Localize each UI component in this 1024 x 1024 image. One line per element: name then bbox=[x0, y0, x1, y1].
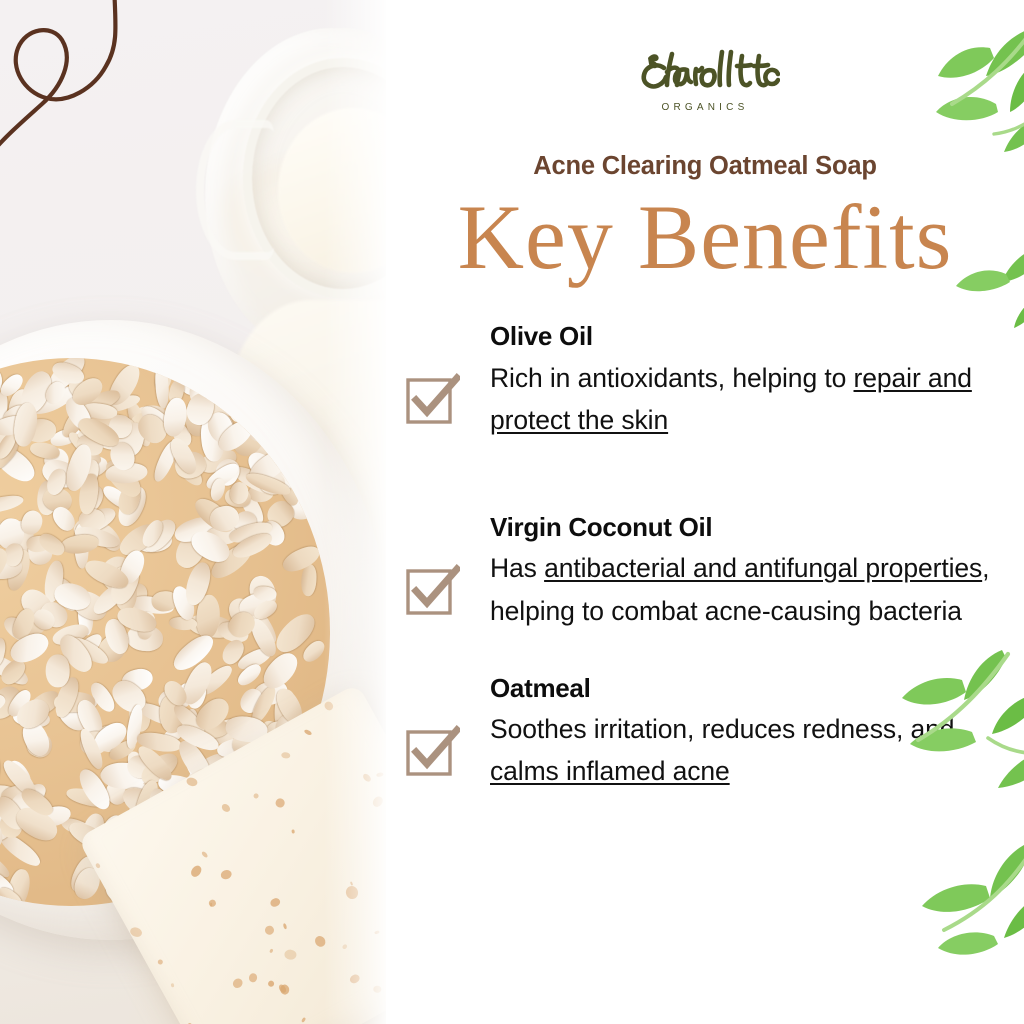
brand-logo: ORGANICS bbox=[386, 48, 1024, 113]
key-benefits-poster: ORGANICS Acne Clearing Oatmeal Soap Key … bbox=[0, 0, 1024, 1024]
benefit-text-plain: Soothes irritation, reduces redness, and bbox=[490, 714, 954, 744]
brand-tagline: ORGANICS bbox=[386, 102, 1024, 113]
benefits-list: Olive Oil Rich in antioxidants, helping … bbox=[386, 322, 1024, 793]
benefit-text-plain: Rich in antioxidants, helping to bbox=[490, 363, 854, 393]
product-photo-panel bbox=[0, 0, 386, 1024]
benefit-text-plain: Has bbox=[490, 553, 544, 583]
decorative-squiggle-line bbox=[0, 0, 190, 194]
leaf-branch-bottom-right-icon bbox=[898, 840, 1024, 1024]
milk-pitcher-handle bbox=[196, 120, 274, 260]
benefit-item-oatmeal: Oatmeal Soothes irritation, reduces redn… bbox=[386, 674, 1024, 793]
page-title: Key Benefits bbox=[386, 189, 1024, 286]
photo-edge-fade bbox=[324, 0, 386, 1024]
benefit-item-virgin-coconut-oil: Virgin Coconut Oil Has antibacterial and… bbox=[386, 513, 1024, 632]
checkbox-checked-icon[interactable] bbox=[404, 561, 460, 617]
product-subtitle: Acne Clearing Oatmeal Soap bbox=[386, 152, 1024, 181]
benefit-text-underlined: calms inflamed acne bbox=[490, 756, 730, 786]
benefit-description: Soothes irritation, reduces redness, and… bbox=[490, 708, 1024, 792]
benefit-heading: Oatmeal bbox=[490, 674, 1024, 703]
content-panel: ORGANICS Acne Clearing Oatmeal Soap Key … bbox=[386, 0, 1024, 1024]
benefit-text-underlined: antibacterial and antifungal properties bbox=[544, 553, 982, 583]
benefit-heading: Virgin Coconut Oil bbox=[490, 513, 1024, 542]
benefit-description: Has antibacterial and antifungal propert… bbox=[490, 547, 1024, 631]
checkbox-checked-icon[interactable] bbox=[404, 370, 460, 426]
benefit-description: Rich in antioxidants, helping to repair … bbox=[490, 357, 1024, 441]
checkbox-checked-icon[interactable] bbox=[404, 722, 460, 778]
benefit-item-olive-oil: Olive Oil Rich in antioxidants, helping … bbox=[386, 322, 1024, 441]
benefit-heading: Olive Oil bbox=[490, 322, 1024, 351]
charlotte-script-logo-icon bbox=[630, 48, 780, 100]
